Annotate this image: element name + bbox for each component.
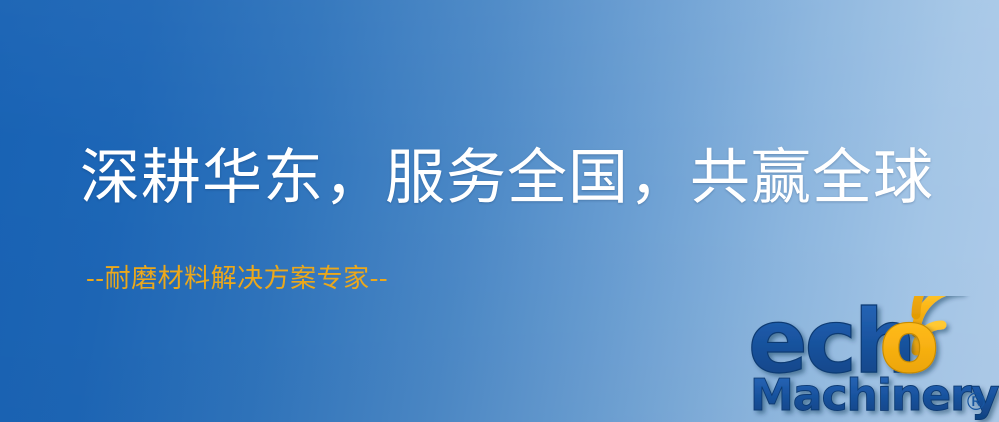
banner-subtitle: --耐磨材料解决方案专家-- (86, 266, 388, 292)
company-logo[interactable]: ech o Machinery ® (748, 296, 999, 422)
logo-subword-machinery: Machinery (750, 370, 999, 421)
banner-headline: 深耕华东，服务全国，共赢全球 (80, 148, 934, 208)
logo-trademark-symbol: ® (964, 388, 988, 416)
hero-banner: 深耕华东，服务全国，共赢全球 --耐磨材料解决方案专家-- (0, 0, 999, 422)
